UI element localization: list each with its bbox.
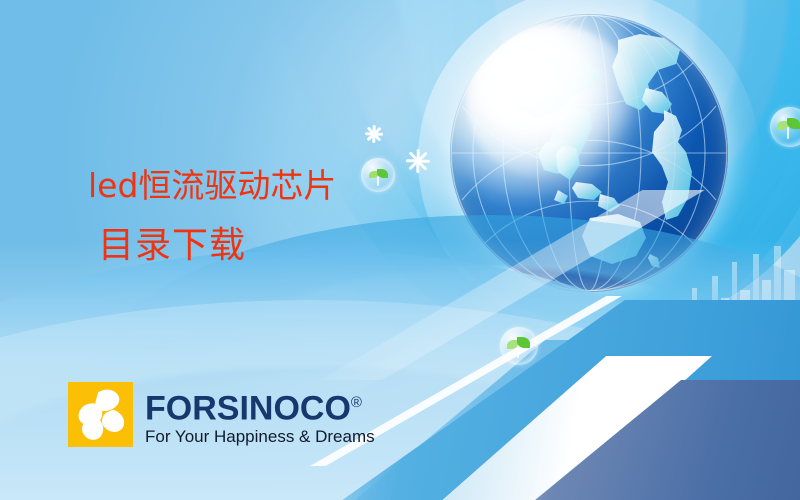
leaf-stem — [517, 346, 519, 358]
logo-tagline: For Your Happiness & Dreams — [145, 427, 375, 447]
logo-wordmark-text: FORSINOCO — [145, 389, 351, 427]
leaf-stem — [787, 127, 789, 139]
four-petal-pinwheel-icon — [68, 382, 133, 447]
headline: led恒流驱动芯片 目录下载 — [88, 166, 508, 268]
banner-canvas: led恒流驱动芯片 目录下载 FORSINOCO® For Your Happi… — [0, 0, 800, 500]
brand-logo[interactable]: FORSINOCO® For Your Happiness & Dreams — [68, 382, 375, 447]
headline-line-2: 目录下载 — [98, 224, 508, 268]
registered-trademark-icon: ® — [351, 394, 362, 411]
flower-burst-icon — [364, 124, 384, 144]
pinwheel-svg — [68, 382, 133, 447]
bubble-with-leaf-icon — [500, 327, 538, 365]
headline-line-1: led恒流驱动芯片 — [88, 166, 508, 206]
logo-text-block: FORSINOCO® For Your Happiness & Dreams — [145, 382, 375, 447]
logo-wordmark: FORSINOCO® — [145, 385, 375, 426]
